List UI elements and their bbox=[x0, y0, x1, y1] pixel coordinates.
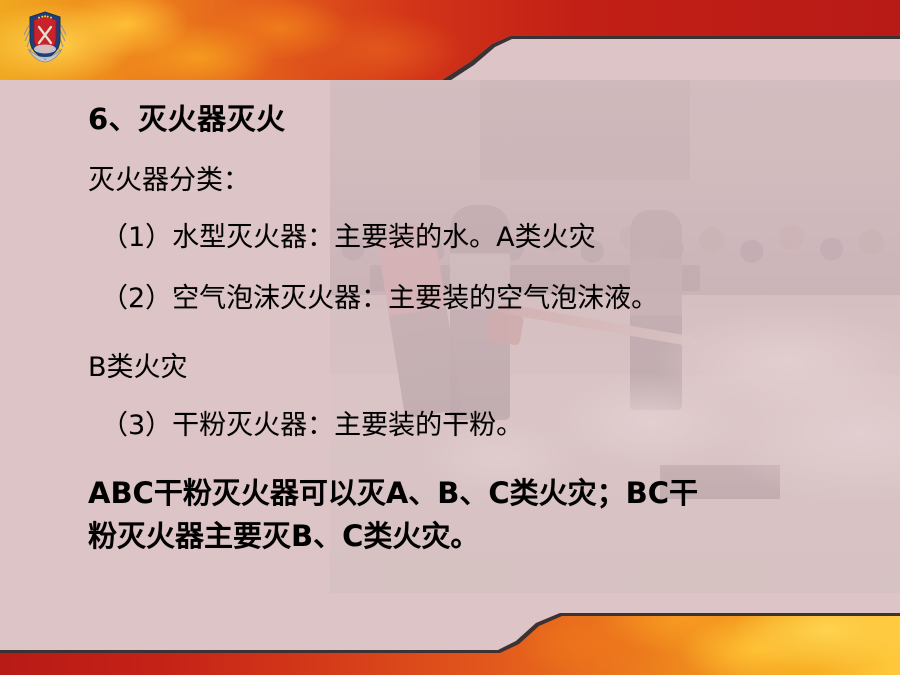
bottom-decorative-band bbox=[0, 593, 900, 675]
list-item-2: （2）空气泡沫灭火器：主要装的空气泡沫液。 bbox=[101, 276, 658, 315]
page-title: 6、灭火器灭火 bbox=[88, 96, 286, 138]
list-item-1: （1）水型灭火器：主要装的水。A类火灾 bbox=[101, 215, 596, 254]
list-item-3: （3）干粉灭火器：主要装的干粉。 bbox=[101, 403, 523, 442]
presentation-slide: 6、灭火器灭火 灭火器分类： （1）水型灭火器：主要装的水。A类火灾 （2）空气… bbox=[0, 0, 900, 675]
slide-content: 6、灭火器灭火 灭火器分类： （1）水型灭火器：主要装的水。A类火灾 （2）空气… bbox=[0, 0, 900, 675]
summary-line-2: 粉灭火器主要灭B、C类火灾。 bbox=[88, 513, 479, 555]
subtitle-classification: 灭火器分类： bbox=[88, 158, 250, 197]
note-class-b-fire: B类火灾 bbox=[88, 345, 188, 384]
summary-line-1: ABC干粉灭火器可以灭A、B、C类火灾；BC干 bbox=[88, 470, 698, 512]
